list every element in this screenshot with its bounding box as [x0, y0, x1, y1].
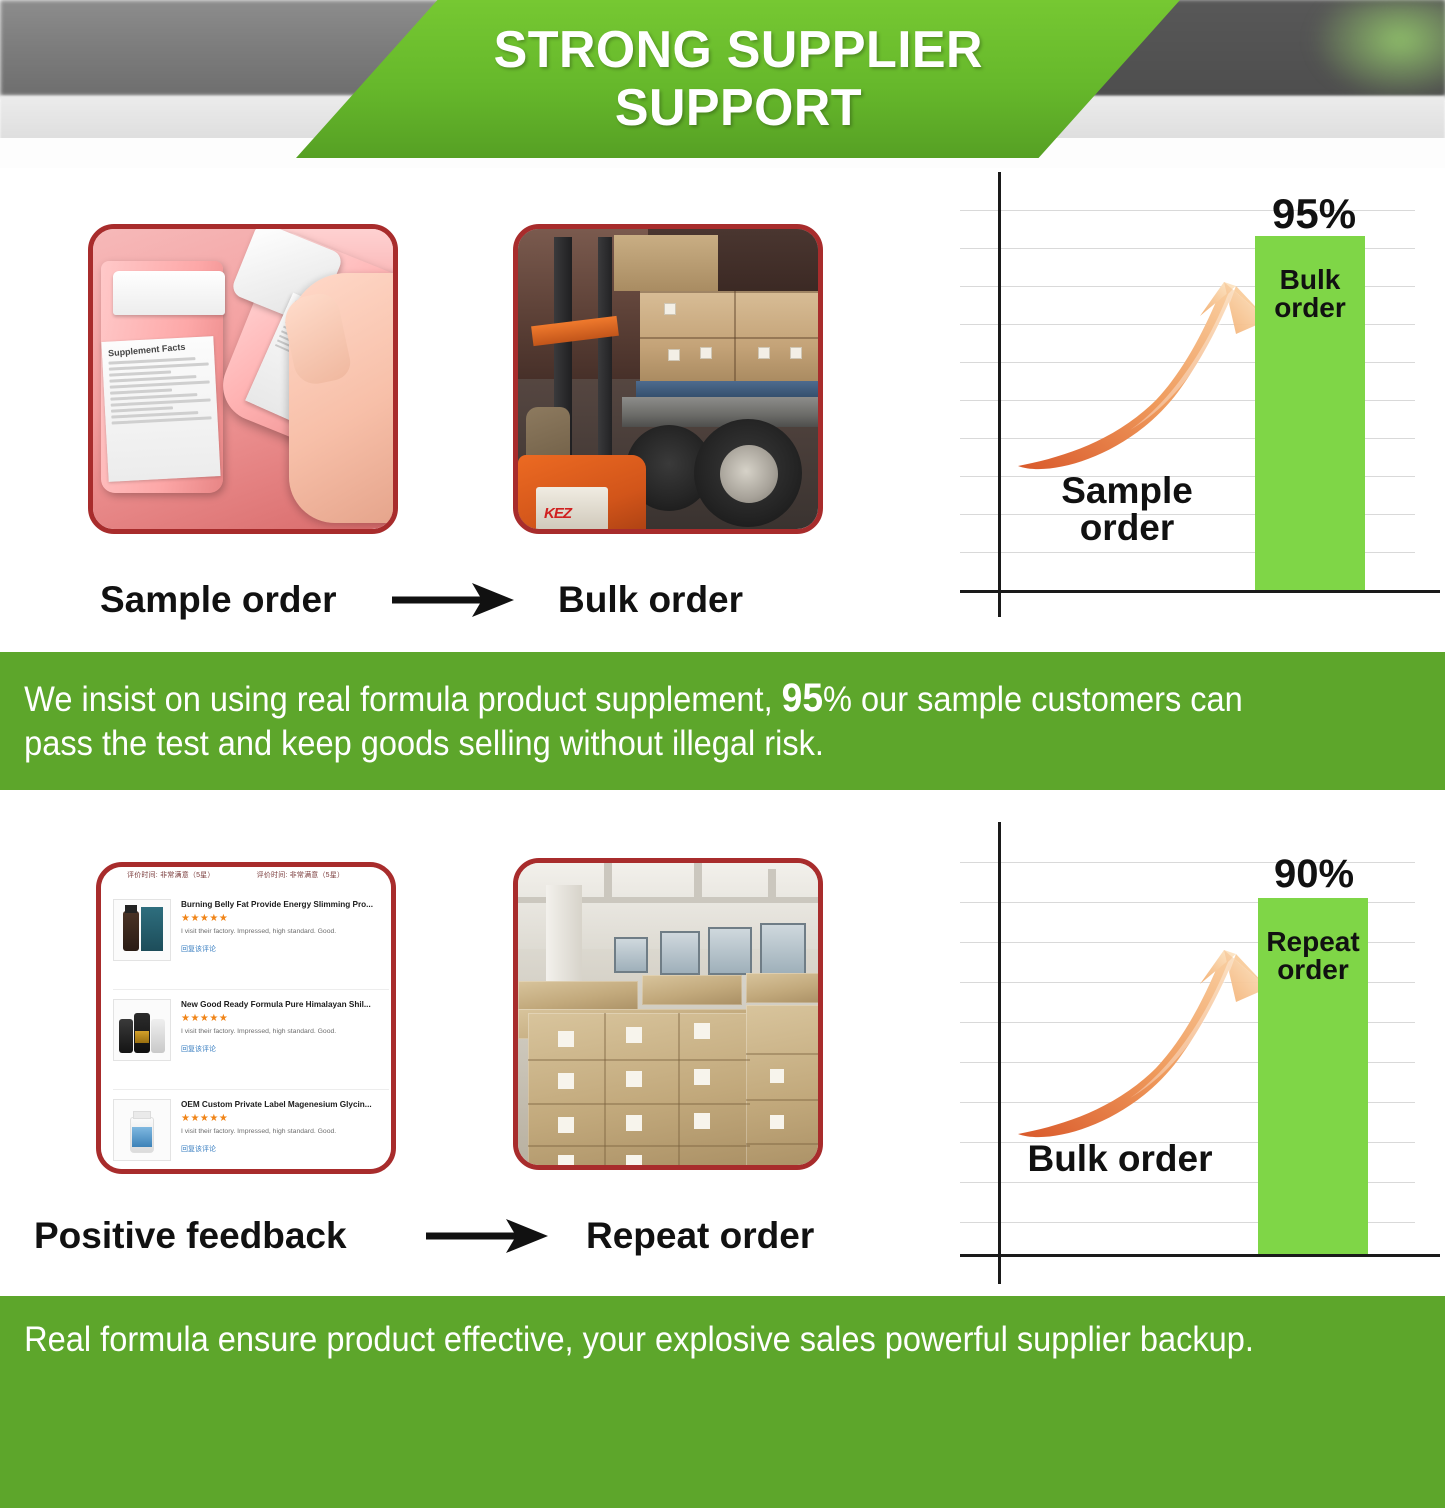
bar-category-label-text: Repeat order	[1250, 928, 1376, 984]
forklift-brand-text: KEZ	[544, 505, 571, 522]
header-banner-area: STRONG SUPPLIER SUPPORT	[0, 0, 1445, 168]
baseline-category-label: Bulk order	[1020, 1140, 1220, 1177]
green-banner-real-formula: Real formula ensure product effective, y…	[0, 1296, 1445, 1508]
photo-buyer-reviews: 评价时间: 非常满意（5星） 评价时间: 非常满意（5星） Burning Be…	[96, 862, 396, 1174]
chart-bulk-to-repeat: 90% Repeat order Bulk order	[950, 822, 1445, 1284]
review-item[interactable]: OEM Custom Private Label Magenesium Glyc…	[101, 1093, 396, 1167]
caption-row-sample-bulk: Sample order Bulk order	[100, 572, 800, 628]
review-star-rating: ★★★★★	[181, 1112, 391, 1125]
photo-supplement-bottles: Supplement Facts Supplement Facts	[88, 224, 398, 534]
chart-y-axis	[998, 172, 1001, 617]
chart-x-axis	[960, 590, 1440, 593]
bar-value-label: 90%	[1274, 852, 1354, 897]
header-background-foliage-blur	[1310, 0, 1445, 100]
arrow-right-icon	[424, 1215, 554, 1257]
supplement-facts-label-text: Supplement Facts	[101, 336, 214, 361]
photo-warehouse-pallets	[513, 858, 823, 1170]
review-reply-link[interactable]: 回复该评论	[181, 944, 391, 954]
review-product-thumbnail	[113, 1099, 171, 1161]
caption-repeat-order: Repeat order	[586, 1215, 814, 1257]
reviews-meta-right: 评价时间: 非常满意（5星）	[257, 870, 345, 880]
header-title-group: STRONG SUPPLIER SUPPORT	[296, 0, 1180, 158]
green-banner-sample-stat: We insist on using real formula product …	[0, 652, 1445, 790]
green-banner-text-1: We insist on using real formula product …	[0, 676, 1344, 766]
caption-row-feedback-repeat: Positive feedback Repeat order	[34, 1208, 824, 1264]
baseline-category-label-text: Sample order	[1012, 472, 1242, 546]
page-title-line1: STRONG SUPPLIER	[493, 21, 982, 79]
review-product-thumbnail	[113, 999, 171, 1061]
caption-sample-order: Sample order	[100, 579, 390, 621]
review-star-rating: ★★★★★	[181, 1012, 391, 1025]
review-body-text: I visit their factory. Impressed, high s…	[181, 1127, 391, 1137]
caption-bulk-order: Bulk order	[558, 579, 743, 621]
review-title: OEM Custom Private Label Magenesium Glyc…	[181, 1099, 391, 1110]
photo-forklift-loading: KEZ	[513, 224, 823, 534]
section-sample-to-bulk: Supplement Facts Supplement Facts	[0, 168, 1445, 652]
arrow-right-icon	[390, 579, 520, 621]
reviews-meta-row: 评价时间: 非常满意（5星） 评价时间: 非常满意（5星）	[101, 867, 396, 883]
reviews-meta-left: 评价时间: 非常满意（5星）	[127, 870, 215, 880]
review-body-text: I visit their factory. Impressed, high s…	[181, 927, 391, 937]
bottle-background: Supplement Facts	[101, 261, 223, 493]
caption-positive-feedback: Positive feedback	[34, 1215, 424, 1257]
bar-value-label: 95%	[1272, 190, 1356, 238]
review-item[interactable]: New Good Ready Formula Pure Himalayan Sh…	[101, 993, 396, 1067]
review-reply-link[interactable]: 回复该评论	[181, 1044, 391, 1054]
section-feedback-to-repeat: 评价时间: 非常满意（5星） 评价时间: 非常满意（5星） Burning Be…	[0, 790, 1445, 1290]
chart-sample-to-bulk: 95% Bulk order Sample order	[950, 172, 1445, 617]
chart-y-axis	[998, 822, 1001, 1284]
review-star-rating: ★★★★★	[181, 912, 391, 925]
bar-category-label: Repeat order	[1250, 928, 1376, 984]
baseline-category-label: Sample order	[1012, 472, 1242, 546]
page-title-line2: SUPPORT	[614, 79, 861, 137]
green-banner-text-2: Real formula ensure product effective, y…	[0, 1318, 1278, 1362]
review-item[interactable]: Burning Belly Fat Provide Energy Slimmin…	[101, 893, 396, 967]
review-title: Burning Belly Fat Provide Energy Slimmin…	[181, 899, 391, 910]
review-reply-link[interactable]: 回复该评论	[181, 1144, 391, 1154]
banner-text-before: We insist on using real formula product …	[24, 680, 781, 719]
bar-category-label: Bulk order	[1255, 266, 1365, 322]
chart-x-axis	[960, 1254, 1440, 1257]
review-product-thumbnail	[113, 899, 171, 961]
baseline-category-label-text: Bulk order	[1020, 1140, 1220, 1177]
banner-highlight-95: 95	[782, 676, 823, 720]
bar-category-label-text: Bulk order	[1255, 266, 1365, 322]
review-title: New Good Ready Formula Pure Himalayan Sh…	[181, 999, 391, 1010]
review-body-text: I visit their factory. Impressed, high s…	[181, 1027, 391, 1037]
